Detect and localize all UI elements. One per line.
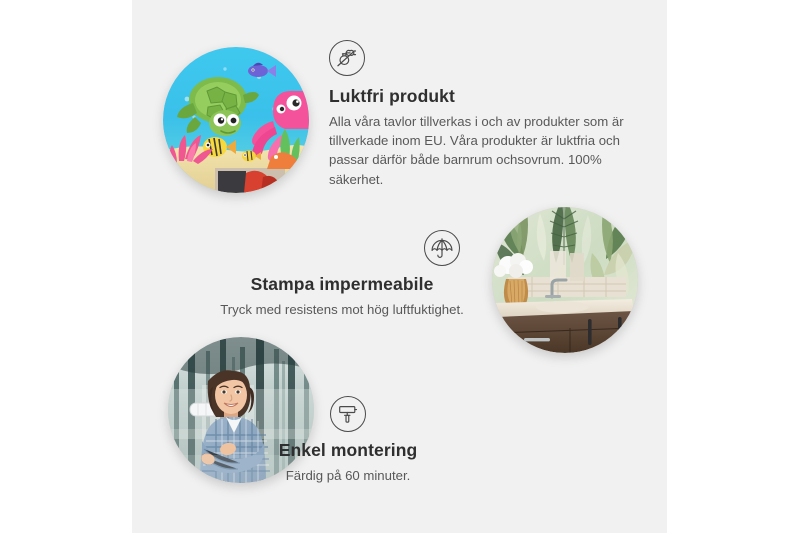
bathroom-tropical-wallpaper-photo [492,207,638,353]
feature-description: Alla våra tavlor tillverkas i och av pro… [329,112,629,190]
no-odour-perfume-bottle-icon [329,40,365,76]
feature-text-block: Stampa impermeabile Tryck med resistens … [206,274,478,319]
product-features-banner: Luktfri produkt Alla våra tavlor tillver… [0,0,800,533]
feature-odour-free: Luktfri produkt Alla våra tavlor tillver… [329,40,629,189]
feature-title: Stampa impermeabile [206,274,478,295]
feature-title: Enkel montering [268,440,428,461]
feature-text-block: Luktfri produkt Alla våra tavlor tillver… [329,86,629,189]
feature-waterproof: Stampa impermeabile Tryck med resistens … [206,230,478,319]
feature-easy-mounting: Enkel montering Färdig på 60 minuter. [268,396,428,485]
feature-title: Luktfri produkt [329,86,629,107]
underwater-cartoon-sea-life-photo [163,47,309,193]
feature-description: Färdig på 60 minuter. [268,466,428,485]
feature-description: Tryck med resistens mot hög luftfuktighe… [206,300,478,319]
paint-roller-icon [330,396,366,432]
umbrella-icon [424,230,460,266]
feature-text-block: Enkel montering Färdig på 60 minuter. [268,440,428,485]
